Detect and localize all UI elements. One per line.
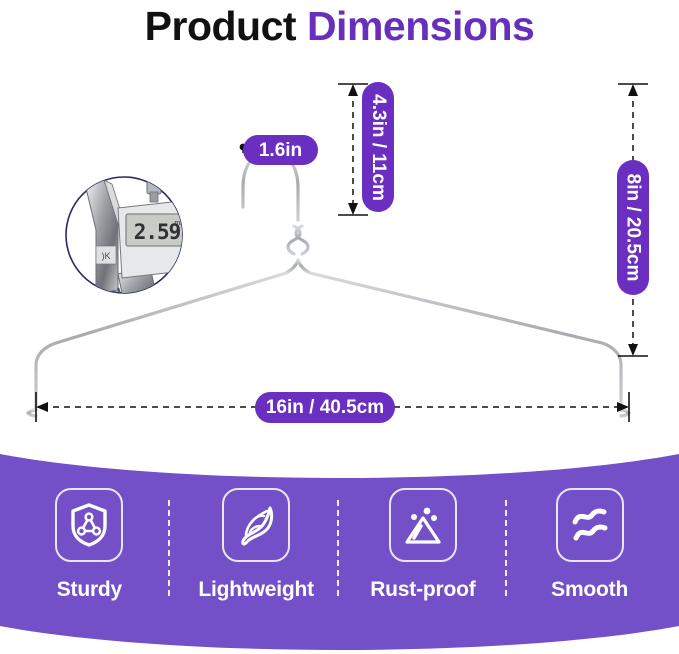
measurement-pill-total-width: 16in / 40.5cm [255,392,395,423]
measurement-pill-hook-width: 1.6in [243,135,318,165]
feature-sturdy-label: Sturdy [57,578,122,602]
feature-lightweight: Lightweight [175,472,337,622]
shield-icon [68,502,110,548]
measurement-pill-hook-height: 4.3in / 11cm [362,82,394,212]
hanger-diagram-svg: 2.59 mm )K [0,60,679,440]
measurement-label-total-height: 8in / 20.5cm [624,174,643,282]
powder-pile-icon [401,502,445,548]
product-dimensions-infographic: Product Dimensions [0,0,679,654]
page-title-part1: Product [145,3,307,49]
features-list: Sturdy Lightweight [0,440,679,654]
measurement-label-total-width: 16in / 40.5cm [266,398,384,417]
feature-smooth-label: Smooth [551,578,628,602]
feature-sturdy-icon-box [55,488,123,562]
caliper-display-unit: mm [174,220,186,227]
feather-icon [234,502,278,548]
wavy-lines-icon [568,502,612,548]
caliper-inset: 2.59 mm )K [66,177,212,312]
feature-rust-proof-icon-box [389,488,457,562]
feature-lightweight-label: Lightweight [198,578,314,602]
feature-divider-1 [168,500,170,596]
feature-sturdy: Sturdy [8,472,170,622]
page-title-part2: Dimensions [307,3,534,49]
measurement-pill-total-height: 8in / 20.5cm [617,160,649,295]
feature-divider-3 [505,500,507,596]
features-banner: Sturdy Lightweight [0,440,679,654]
feature-smooth: Smooth [509,472,671,622]
feature-lightweight-icon-box [222,488,290,562]
measurement-label-hook-height: 4.3in / 11cm [369,94,388,201]
feature-rust-proof-label: Rust-proof [370,578,475,602]
feature-rust-proof: Rust-proof [342,472,504,622]
svg-text:)K: )K [102,251,111,261]
hanger-diagram: 2.59 mm )K [0,60,679,440]
feature-divider-2 [337,500,339,596]
feature-smooth-icon-box [556,488,624,562]
measurement-label-hook-width: 1.6in [259,141,302,160]
page-title: Product Dimensions [0,2,679,50]
